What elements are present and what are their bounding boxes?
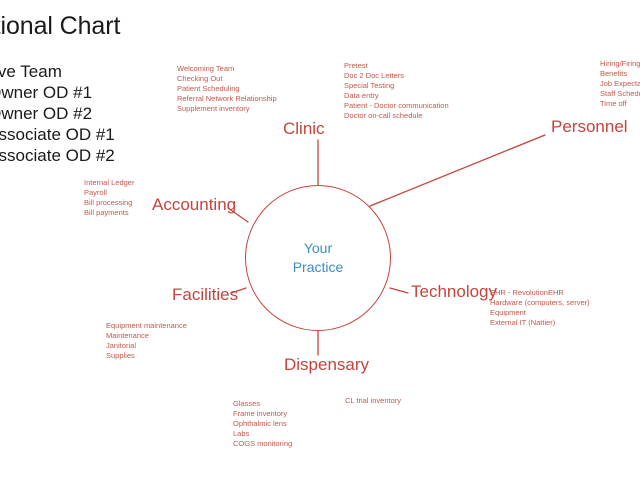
organizational-chart-slide: izational Chart ecutive Team P - Owner O…: [0, 0, 640, 480]
detail-item: Time off: [600, 99, 640, 109]
detail-item: Labs: [233, 429, 292, 439]
spoke-technology: [390, 288, 408, 293]
detail-item: Doctor on-call schedule: [344, 111, 449, 121]
detail-item: Ophthalmic lens: [233, 419, 292, 429]
detail-list-clinic-left: Welcoming Team Checking Out Patient Sche…: [177, 64, 277, 114]
detail-item: Internal Ledger: [84, 178, 134, 188]
detail-item: Bill processing: [84, 198, 134, 208]
branch-label-personnel[interactable]: Personnel: [551, 118, 628, 135]
detail-item: Checking Out: [177, 74, 277, 84]
detail-item: Payroll: [84, 188, 134, 198]
detail-item: COGS monitoring: [233, 439, 292, 449]
executive-team-item: P - Owner OD #2: [0, 103, 115, 124]
branch-label-technology[interactable]: Technology: [411, 283, 497, 300]
detail-item: Hardware (computers, server): [490, 298, 590, 308]
center-node-label: Your Practice: [245, 185, 391, 331]
detail-item: Janitorial: [106, 341, 187, 351]
detail-list-clinic-mid: Pretest Doc 2 Doc Letters Special Testin…: [344, 61, 449, 121]
center-label-line1: Your: [304, 239, 332, 258]
detail-item: Supplement inventory: [177, 104, 277, 114]
detail-item: Welcoming Team: [177, 64, 277, 74]
detail-item: Maintenance: [106, 331, 187, 341]
detail-list-accounting: Internal Ledger Payroll Bill processing …: [84, 178, 134, 218]
spoke-personnel: [370, 135, 545, 206]
executive-team-item: P - Associate OD #2: [0, 145, 115, 166]
detail-list-facilities: Equipment maintenance Maintenance Janito…: [106, 321, 187, 361]
detail-list-technology: EHR - RevolutionEHR Hardware (computers,…: [490, 288, 590, 328]
detail-list-personnel: Hiring/Firing Benefits Job Expectations …: [600, 59, 640, 109]
detail-item: Glasses: [233, 399, 292, 409]
executive-team-block: ecutive Team P - Owner OD #1 P - Owner O…: [0, 61, 115, 166]
detail-item: Equipment maintenance: [106, 321, 187, 331]
detail-item: EHR - RevolutionEHR: [490, 288, 590, 298]
executive-team-item: P - Associate OD #1: [0, 124, 115, 145]
detail-item: Job Expectations: [600, 79, 640, 89]
detail-list-dispensary-right: CL trial inventory: [345, 396, 401, 406]
detail-list-dispensary: Glasses Frame inventory Ophthalmic lens …: [233, 399, 292, 449]
detail-item: Hiring/Firing: [600, 59, 640, 69]
detail-item: Frame inventory: [233, 409, 292, 419]
executive-team-heading: ecutive Team: [0, 61, 115, 82]
branch-label-facilities[interactable]: Facilities: [172, 286, 238, 303]
detail-item: Data entry: [344, 91, 449, 101]
detail-item: Bill payments: [84, 208, 134, 218]
detail-item: Equipment: [490, 308, 590, 318]
branch-label-accounting[interactable]: Accounting: [152, 196, 236, 213]
detail-item: Patient Scheduling: [177, 84, 277, 94]
detail-item: Doc 2 Doc Letters: [344, 71, 449, 81]
detail-item: CL trial inventory: [345, 396, 401, 406]
page-title: izational Chart: [0, 12, 120, 41]
detail-item: Supplies: [106, 351, 187, 361]
branch-label-clinic[interactable]: Clinic: [283, 120, 325, 137]
detail-item: Benefits: [600, 69, 640, 79]
executive-team-item: P - Owner OD #1: [0, 82, 115, 103]
detail-item: Patient - Doctor communication: [344, 101, 449, 111]
detail-item: Pretest: [344, 61, 449, 71]
detail-item: Staff Schedule: [600, 89, 640, 99]
detail-item: Referral Network Relationship: [177, 94, 277, 104]
detail-item: Special Testing: [344, 81, 449, 91]
branch-label-dispensary[interactable]: Dispensary: [284, 356, 369, 373]
center-label-line2: Practice: [293, 258, 344, 277]
detail-item: External IT (Nattier): [490, 318, 590, 328]
